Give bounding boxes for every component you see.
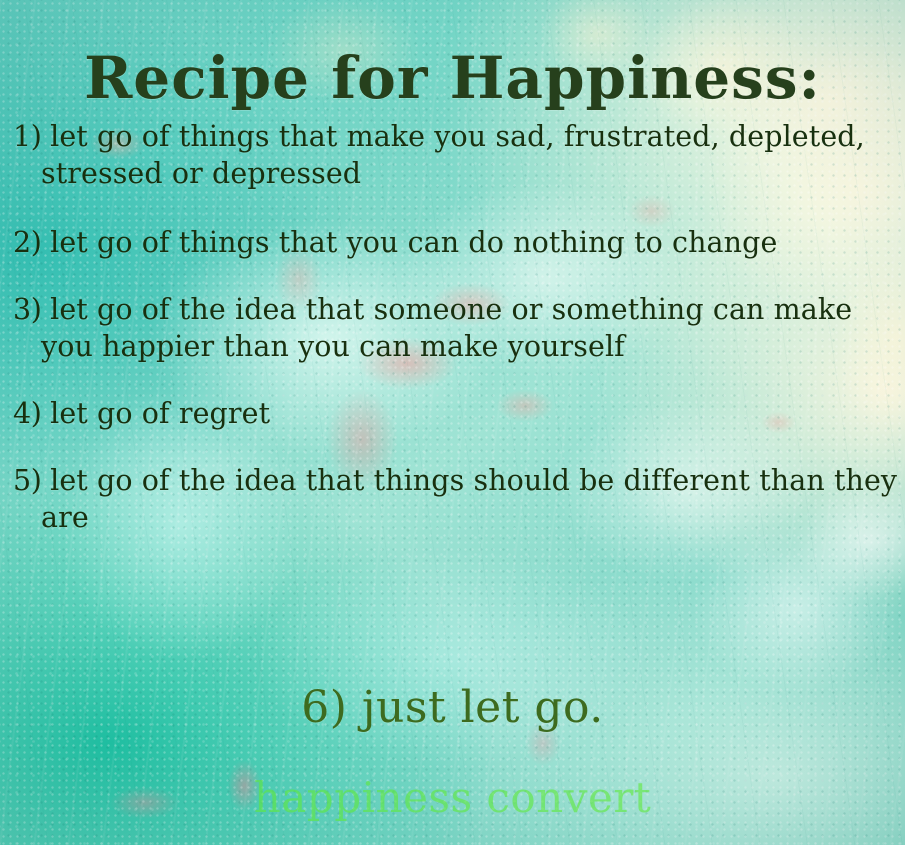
happiness-poster: Recipe for Happiness: 1) let go of thing…	[0, 0, 905, 845]
list-item-number: 4)	[13, 397, 50, 430]
list-item-text: let go of things that you can do nothing…	[50, 226, 777, 259]
list-item-number: 5)	[13, 464, 50, 497]
list-item: 5) let go of the idea that things should…	[13, 462, 903, 536]
watermark-text: happiness convert	[0, 777, 905, 819]
list-item: 4) let go of regret	[13, 395, 903, 432]
list-item-number: 3)	[13, 293, 50, 326]
list-item-text: let go of regret	[50, 397, 270, 430]
recipe-list: 1) let go of things that make you sad, f…	[13, 118, 903, 536]
list-item-text: let go of things that make you sad, frus…	[41, 120, 865, 190]
final-list-item: 6) just let go.	[0, 684, 905, 732]
list-item: 1) let go of things that make you sad, f…	[13, 118, 903, 192]
list-item-text: let go of the idea that someone or somet…	[41, 293, 852, 363]
list-item-number: 2)	[13, 226, 50, 259]
page-title: Recipe for Happiness:	[0, 47, 905, 110]
list-item-number: 1)	[13, 120, 50, 153]
poster-content: Recipe for Happiness: 1) let go of thing…	[0, 0, 905, 845]
list-item: 3) let go of the idea that someone or so…	[13, 291, 903, 365]
list-item-text: let go of the idea that things should be…	[41, 464, 897, 534]
list-item: 2) let go of things that you can do noth…	[13, 224, 903, 261]
